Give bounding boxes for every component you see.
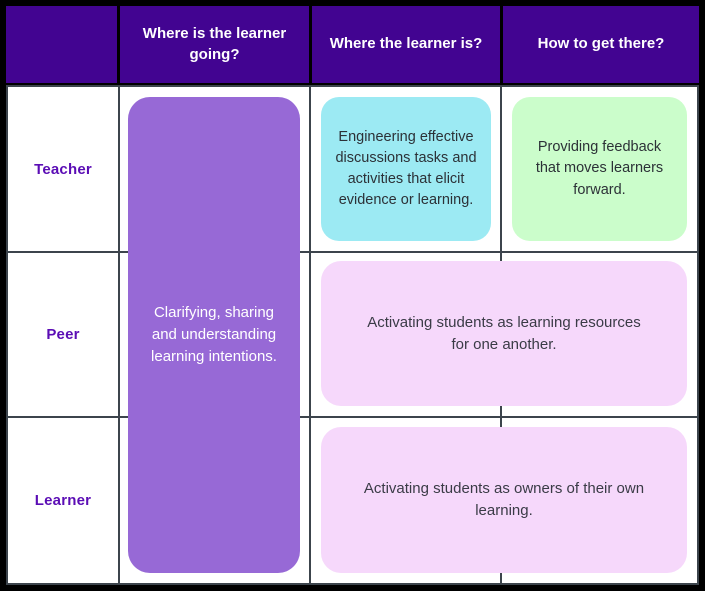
header-cell-where-is: Where the learner is? [312, 6, 500, 83]
card-clarifying-intentions[interactable]: Clarifying, sharing and understanding le… [128, 97, 300, 573]
row-label-teacher: Teacher [8, 87, 120, 253]
row-label-learner: Learner [8, 418, 120, 583]
header-cell-how-to-get: How to get there? [503, 6, 699, 83]
card-providing-feedback[interactable]: Providing feedback that moves learners f… [512, 97, 687, 241]
card-engineering-discussions[interactable]: Engineering effective discussions tasks … [321, 97, 491, 241]
header-cell-where-going: Where is the learner going? [120, 6, 309, 83]
card-peer-resources[interactable]: Activating students as learning resource… [321, 261, 687, 406]
header-cell-corner [6, 6, 117, 83]
formative-assessment-matrix: Where is the learner going? Where the le… [6, 6, 699, 585]
matrix-header-row: Where is the learner going? Where the le… [6, 6, 699, 83]
card-owners-of-learning[interactable]: Activating students as owners of their o… [321, 427, 687, 573]
row-label-peer: Peer [8, 253, 120, 418]
